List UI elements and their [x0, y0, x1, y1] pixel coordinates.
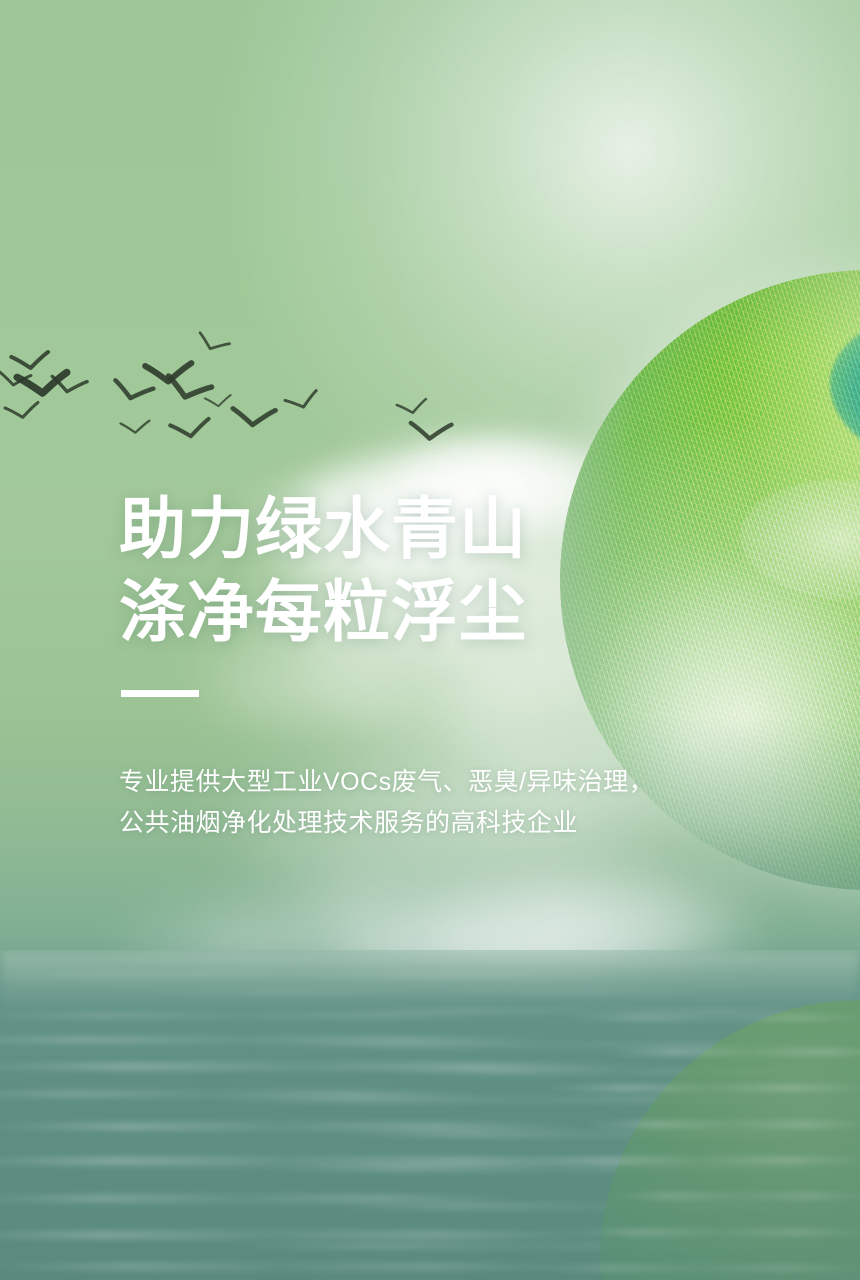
text-content: 助力绿水青山 涤净每粒浮尘 专业提供大型工业VOCs废气、恶臭/异味治理， 公共… [0, 0, 860, 1280]
headline-line-2: 涤净每粒浮尘 [119, 571, 527, 654]
subtitle: 专业提供大型工业VOCs废气、恶臭/异味治理， 公共油烟净化处理技术服务的高科技… [119, 762, 654, 844]
headline-line-1: 助力绿水青山 [119, 488, 527, 571]
headline-divider [121, 690, 199, 697]
eco-hero-poster: 助力绿水青山 涤净每粒浮尘 专业提供大型工业VOCs废气、恶臭/异味治理， 公共… [0, 0, 860, 1280]
subtitle-line-1: 专业提供大型工业VOCs废气、恶臭/异味治理， [119, 762, 654, 803]
subtitle-line-2: 公共油烟净化处理技术服务的高科技企业 [119, 803, 654, 844]
headline: 助力绿水青山 涤净每粒浮尘 [119, 488, 527, 654]
